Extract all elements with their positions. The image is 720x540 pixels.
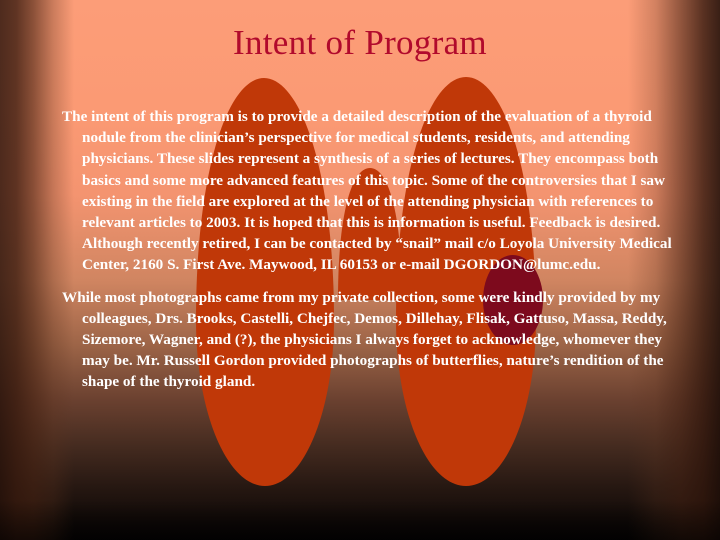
- presentation-slide: Intent of Program The intent of this pro…: [0, 0, 720, 540]
- body-paragraph-2: While most photographs came from my priv…: [62, 287, 676, 393]
- body-paragraph-1: The intent of this program is to provide…: [62, 106, 676, 276]
- slide-body: The intent of this program is to provide…: [62, 106, 676, 393]
- slide-title: Intent of Program: [0, 22, 720, 64]
- bottom-edge-vignette: [0, 500, 720, 540]
